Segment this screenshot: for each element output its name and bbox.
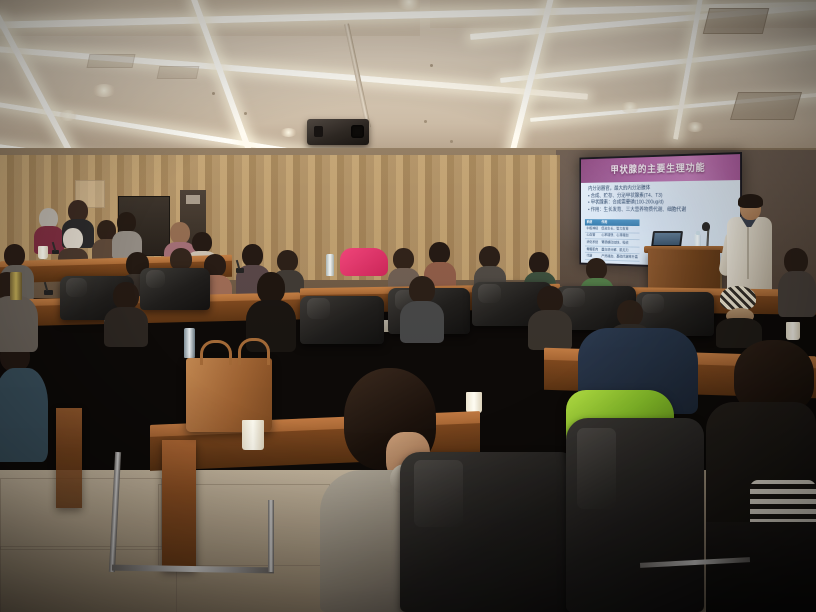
paper-cup (242, 420, 264, 450)
chair-leg (268, 500, 274, 572)
microphone-icon (702, 222, 710, 231)
chair (400, 452, 576, 612)
chair (566, 418, 704, 612)
chair (140, 268, 210, 310)
desk-microphone (52, 250, 59, 254)
water-bottle (184, 328, 195, 358)
paper-cup (466, 392, 482, 413)
downlight (620, 102, 640, 113)
glasses-icon (740, 205, 754, 209)
ceiling-vent (87, 54, 136, 68)
water-bottle (326, 254, 334, 276)
slide-bullet: • 作用：生长发育、三大营养物质代谢、细胞代谢 (588, 207, 734, 215)
lecture-hall-photo: 甲状腺的主要生理功能 内分泌器官，最大的内分泌腺体 • 合成、贮存、分泌甲状腺素… (0, 0, 816, 612)
paper-cup (38, 246, 48, 259)
ceiling-light-strip (500, 42, 816, 83)
slide-table: 系统 作用 中枢神经 促进生长、智力发育 心血管 心率增快、心排增加 消化系统 (585, 219, 640, 262)
desk-microphone (236, 268, 244, 273)
ceiling-projector (307, 119, 369, 145)
audience-member (0, 340, 48, 460)
paper-cup (786, 322, 800, 340)
audience-member (112, 212, 142, 256)
ceiling (0, 0, 816, 172)
water-bottle (10, 272, 22, 300)
audience-member-striped (706, 340, 816, 612)
ceiling-light-strip (0, 44, 588, 100)
audience-member (400, 276, 444, 342)
ceiling-vent (157, 66, 200, 79)
downlight (686, 122, 704, 132)
houndstooth-hat (720, 286, 756, 310)
desk-microphone (44, 290, 53, 295)
lower-body (706, 522, 816, 612)
desk-leg (56, 408, 82, 508)
ceiling-vent (703, 8, 769, 34)
pink-jacket (340, 248, 388, 276)
desk-leg (162, 440, 196, 570)
tote-handle (200, 340, 232, 365)
slide-bullets: 内分泌器官，最大的内分泌腺体 • 合成、贮存、分泌甲状腺素(T4、T3) • 甲… (588, 184, 734, 214)
tote-handle (238, 338, 270, 365)
downlight (280, 128, 297, 137)
wall-sign (186, 195, 200, 204)
audience-member (778, 248, 816, 316)
audience-member (104, 282, 148, 346)
audience-member (528, 286, 572, 348)
downlight (58, 110, 78, 121)
chair (300, 296, 384, 344)
downlight (92, 84, 116, 97)
ceiling-vent (730, 92, 802, 120)
audience-member-with-hat (716, 286, 762, 346)
